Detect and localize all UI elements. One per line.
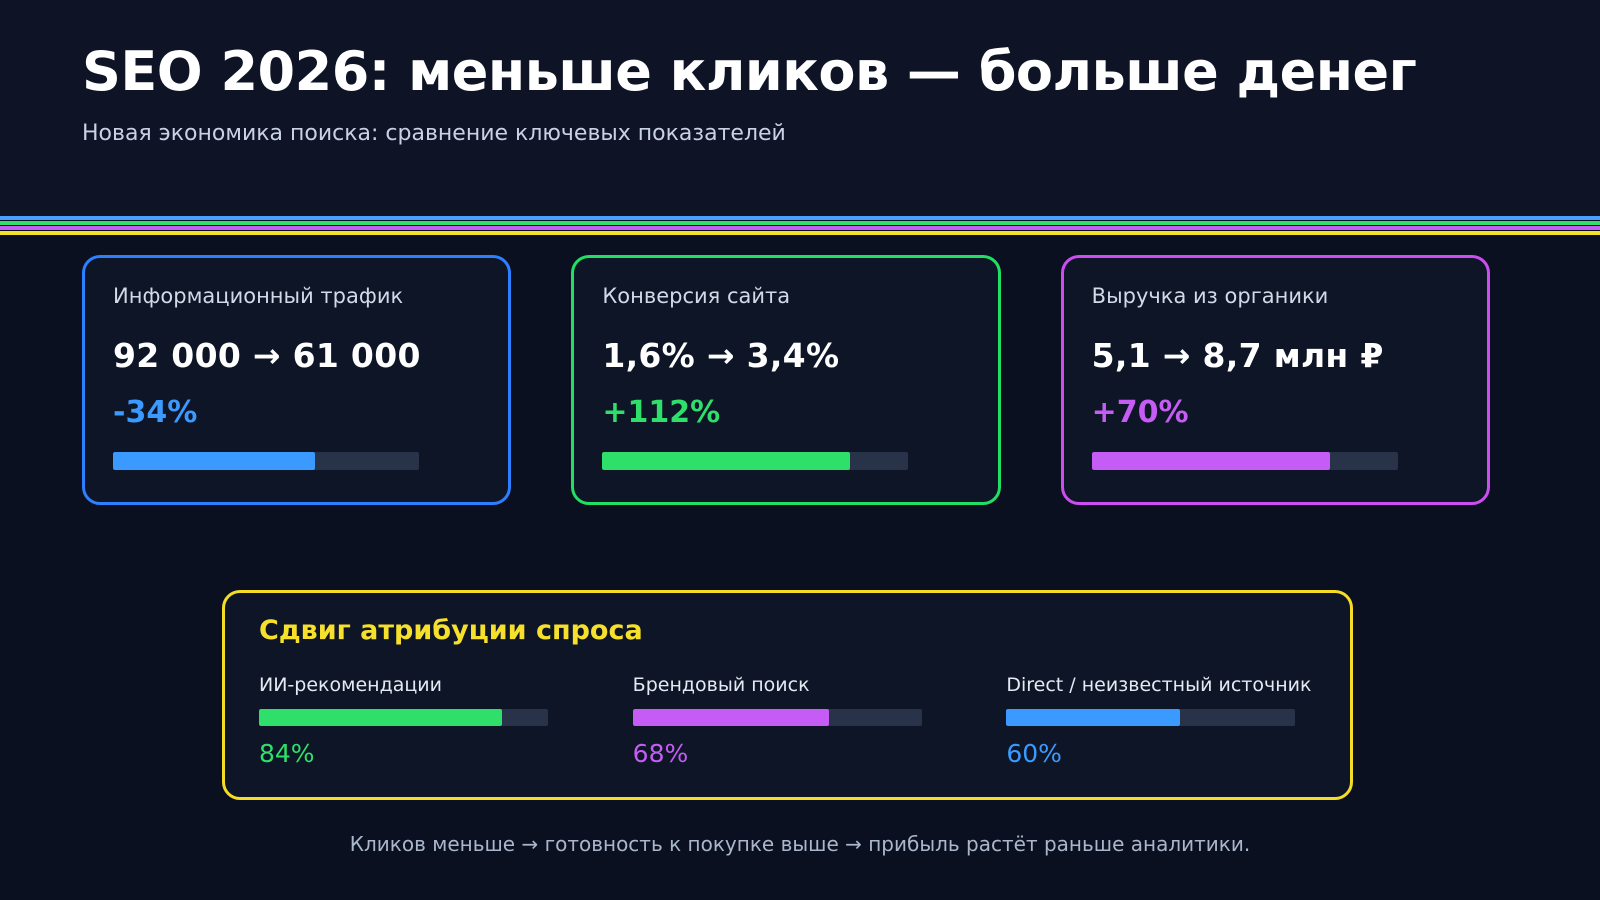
attribution-item-direct: Direct / неизвестный источник 60% xyxy=(1006,674,1316,768)
kpi-card-progress-fill xyxy=(1092,452,1331,470)
kpi-card-progress-fill xyxy=(113,452,315,470)
attribution-progress-fill xyxy=(633,709,830,726)
page-title: SEO 2026: меньше кликов — больше денег xyxy=(82,44,1600,101)
attribution-progress-fill xyxy=(259,709,502,726)
header: SEO 2026: меньше кликов — больше денег Н… xyxy=(0,0,1600,216)
kpi-card-traffic: Информационный трафик 92 000 → 61 000 -3… xyxy=(82,255,511,505)
attribution-item-brand: Брендовый поиск 68% xyxy=(633,674,943,768)
kpi-card-value: 1,6% → 3,4% xyxy=(602,336,969,375)
kpi-card-value: 92 000 → 61 000 xyxy=(113,336,480,375)
kpi-card-progress-fill xyxy=(602,452,850,470)
attribution-item-value: 60% xyxy=(1006,739,1316,768)
attribution-item-label: Брендовый поиск xyxy=(633,674,943,696)
accent-stripe-purple xyxy=(0,226,1600,230)
attribution-item-group: ИИ-рекомендации 84% Брендовый поиск 68% … xyxy=(259,674,1316,768)
kpi-card-progress-track xyxy=(1092,452,1398,470)
attribution-item-label: Direct / неизвестный источник xyxy=(1006,674,1316,696)
attribution-progress-track xyxy=(1006,709,1295,726)
attribution-item-ai: ИИ-рекомендации 84% xyxy=(259,674,569,768)
kpi-card-group: Информационный трафик 92 000 → 61 000 -3… xyxy=(82,255,1490,505)
kpi-card-label: Информационный трафик xyxy=(113,284,480,308)
slide-root: SEO 2026: меньше кликов — больше денег Н… xyxy=(0,0,1600,900)
kpi-card-value: 5,1 → 8,7 млн ₽ xyxy=(1092,336,1459,375)
attribution-progress-track xyxy=(259,709,548,726)
accent-stripe-green xyxy=(0,221,1600,225)
kpi-card-revenue: Выручка из органики 5,1 → 8,7 млн ₽ +70% xyxy=(1061,255,1490,505)
attribution-item-value: 84% xyxy=(259,739,569,768)
accent-stripe-blue xyxy=(0,216,1600,220)
attribution-item-value: 68% xyxy=(633,739,943,768)
kpi-card-label: Конверсия сайта xyxy=(602,284,969,308)
kpi-card-delta: +70% xyxy=(1092,395,1459,430)
kpi-card-label: Выручка из органики xyxy=(1092,284,1459,308)
kpi-card-conversion: Конверсия сайта 1,6% → 3,4% +112% xyxy=(571,255,1000,505)
footer-note: Кликов меньше → готовность к покупке выш… xyxy=(0,832,1600,856)
attribution-item-label: ИИ-рекомендации xyxy=(259,674,569,696)
attribution-progress-track xyxy=(633,709,922,726)
attribution-progress-fill xyxy=(1006,709,1179,726)
attribution-panel-title: Сдвиг атрибуции спроса xyxy=(259,615,1316,646)
accent-stripe-group xyxy=(0,216,1600,238)
kpi-card-delta: +112% xyxy=(602,395,969,430)
kpi-card-delta: -34% xyxy=(113,395,480,430)
kpi-card-progress-track xyxy=(602,452,908,470)
page-subtitle: Новая экономика поиска: сравнение ключев… xyxy=(82,121,1600,146)
accent-stripe-yellow xyxy=(0,231,1600,235)
kpi-card-progress-track xyxy=(113,452,419,470)
attribution-panel: Сдвиг атрибуции спроса ИИ-рекомендации 8… xyxy=(222,590,1353,800)
